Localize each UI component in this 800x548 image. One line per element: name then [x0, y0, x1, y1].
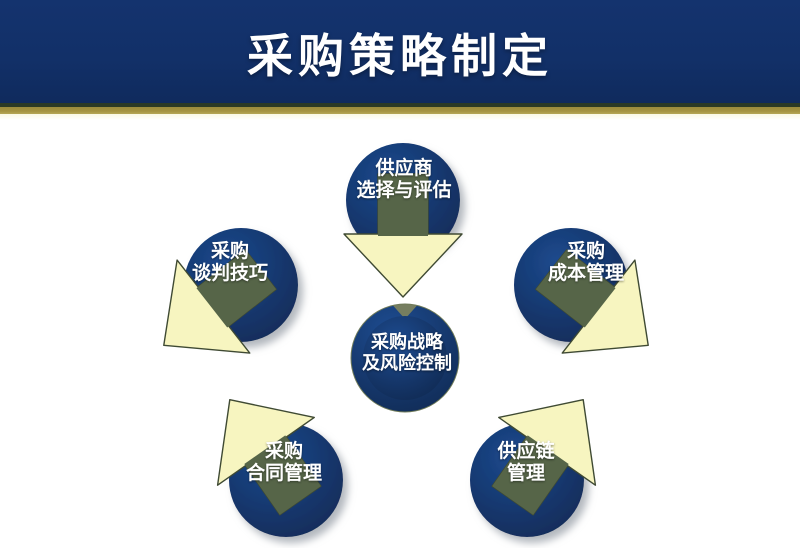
overlap-top	[378, 174, 428, 236]
center-node-core-disc[interactable]	[363, 316, 447, 400]
diagram-canvas	[0, 114, 800, 548]
slide-root: 采购策略制定	[0, 0, 800, 548]
slide-header: 采购策略制定	[0, 0, 800, 107]
header-divider-gold	[0, 107, 800, 114]
page-title: 采购策略制定	[247, 33, 553, 79]
strategy-diagram: 供应商 选择与评估 采购 谈判技巧 采购 成本管理 采购 合同管理 供应链 管理…	[0, 114, 800, 548]
